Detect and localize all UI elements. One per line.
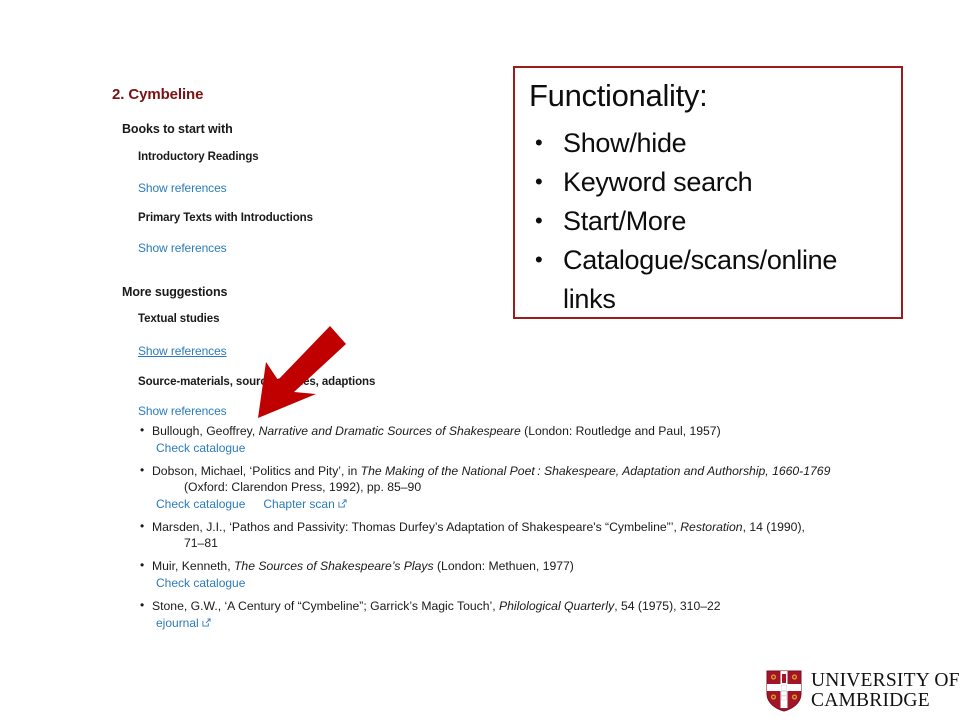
check-catalogue-link[interactable]: Check catalogue [156, 496, 245, 512]
callout-heading: Functionality: [529, 78, 707, 114]
bullet-icon: • [140, 597, 144, 613]
bibliography-entry-links: Check catalogue [140, 440, 940, 456]
external-resource-link[interactable]: Chapter scan [263, 496, 346, 512]
reading-list-subsection-heading: Introductory Readings [138, 151, 259, 163]
link-label: Check catalogue [156, 497, 245, 511]
callout-item-text: Start/More [563, 206, 686, 236]
show-references-link[interactable]: Show references [138, 404, 227, 418]
bibliography-citation: •Muir, Kenneth, The Sources of Shakespea… [140, 558, 940, 574]
bibliography-entry: •Stone, G.W., ‘A Century of “Cymbeline”;… [140, 598, 940, 631]
bullet-icon: • [140, 518, 144, 534]
page-title: 2. Cymbeline [112, 86, 203, 103]
bibliography-entry-links: ejournal [140, 615, 940, 631]
show-references-link[interactable]: Show references [138, 344, 227, 358]
external-resource-link[interactable]: ejournal [156, 615, 211, 631]
bullet-icon: • [140, 462, 144, 478]
callout-item-text: Catalogue/scans/online links [563, 245, 837, 314]
bibliography-list: •Bullough, Geoffrey, Narrative and Drama… [140, 423, 940, 638]
show-references-link[interactable]: Show references [138, 181, 227, 195]
callout-list-item: •Show/hide [529, 124, 895, 163]
callout-item-text: Show/hide [563, 128, 686, 158]
reading-list-subsection-heading: Primary Texts with Introductions [138, 212, 313, 224]
show-references-link[interactable]: Show references [138, 241, 227, 255]
link-label: Check catalogue [156, 441, 245, 455]
check-catalogue-link[interactable]: Check catalogue [156, 440, 245, 456]
bullet-icon: • [535, 123, 542, 162]
external-link-icon [338, 499, 347, 508]
logo-line-2: CAMBRIDGE [811, 691, 960, 711]
bibliography-entry: •Dobson, Michael, ‘Politics and Pity’, i… [140, 463, 940, 512]
bibliography-citation: •Marsden, J.I., ‘Pathos and Passivity: T… [140, 519, 940, 551]
reading-list-section-heading: Books to start with [122, 122, 233, 136]
logo-line-1: UNIVERSITY OF [811, 671, 960, 691]
reading-list-subsection-heading: Textual studies [138, 313, 219, 325]
callout-list-item: •Keyword search [529, 163, 895, 202]
bibliography-entry: •Muir, Kenneth, The Sources of Shakespea… [140, 558, 940, 591]
callout-item-list: •Show/hide•Keyword search•Start/More•Cat… [529, 124, 895, 319]
annotation-arrow [238, 322, 348, 422]
bullet-icon: • [140, 422, 144, 438]
check-catalogue-link[interactable]: Check catalogue [156, 575, 245, 591]
bullet-icon: • [535, 201, 542, 240]
reading-list-section-heading: More suggestions [122, 285, 227, 299]
link-label: Chapter scan [263, 497, 334, 511]
bibliography-entry: •Bullough, Geoffrey, Narrative and Drama… [140, 423, 940, 456]
cambridge-wordmark: UNIVERSITY OF CAMBRIDGE [811, 671, 960, 711]
cambridge-crest-icon [766, 670, 802, 712]
arrow-icon [238, 322, 348, 422]
reading-list-subsection-heading: Source-materials, source studies, adapti… [138, 376, 375, 388]
callout-list-item: •Start/More [529, 202, 895, 241]
bibliography-citation: •Bullough, Geoffrey, Narrative and Drama… [140, 423, 940, 439]
bibliography-citation: •Dobson, Michael, ‘Politics and Pity’, i… [140, 463, 940, 495]
callout-item-text: Keyword search [563, 167, 752, 197]
bibliography-entry-links: Check catalogueChapter scan [140, 496, 940, 512]
bibliography-entry-links: Check catalogue [140, 575, 940, 591]
bibliography-citation: •Stone, G.W., ‘A Century of “Cymbeline”;… [140, 598, 940, 614]
link-label: Check catalogue [156, 576, 245, 590]
university-of-cambridge-logo: UNIVERSITY OF CAMBRIDGE [766, 668, 946, 714]
bullet-icon: • [535, 240, 542, 279]
link-label: ejournal [156, 616, 199, 630]
external-link-icon [202, 618, 211, 627]
functionality-callout-box: Functionality: •Show/hide•Keyword search… [513, 66, 903, 319]
bullet-icon: • [535, 162, 542, 201]
bibliography-entry: •Marsden, J.I., ‘Pathos and Passivity: T… [140, 519, 940, 551]
callout-list-item: •Catalogue/scans/online links [529, 241, 895, 319]
bullet-icon: • [140, 557, 144, 573]
